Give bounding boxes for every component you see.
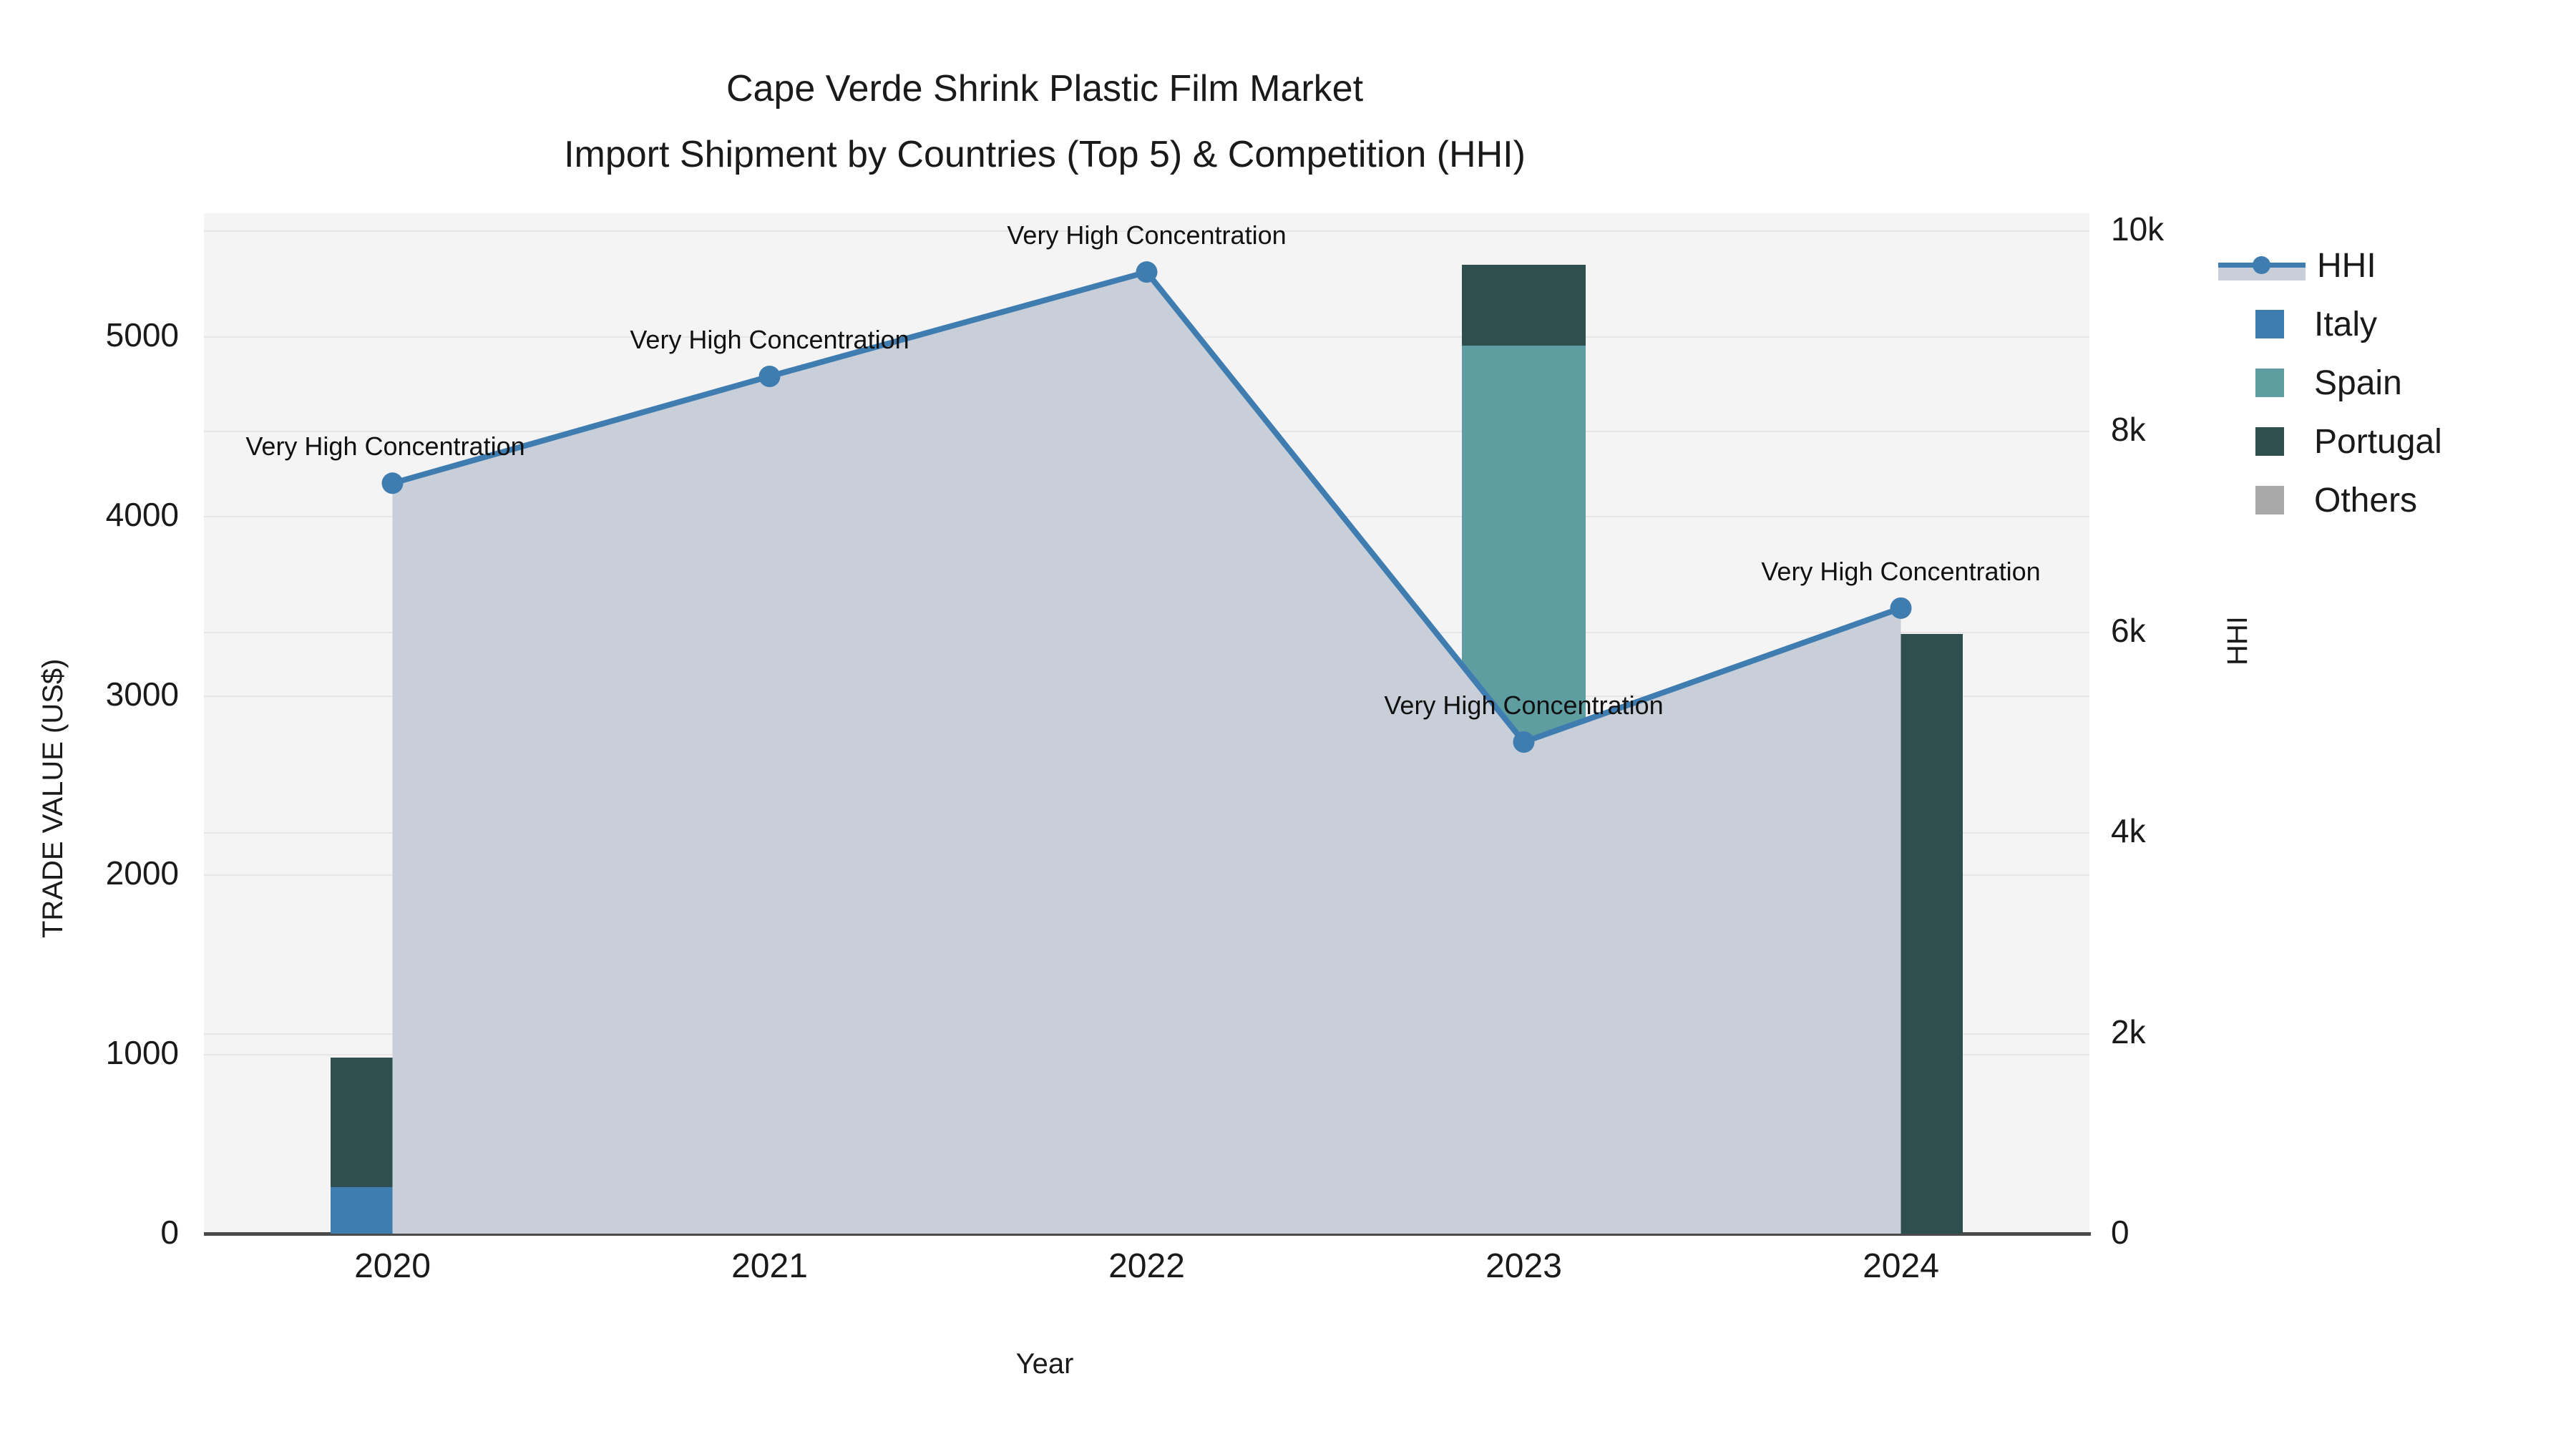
legend-item-others[interactable]: Others — [2218, 471, 2562, 530]
chart-root: Cape Verde Shrink Plastic Film Market Im… — [0, 0, 2576, 1449]
legend-swatch-icon — [2255, 427, 2284, 456]
legend-item-label: Spain — [2314, 364, 2402, 403]
annotation-2024: Very High Concentration — [1651, 557, 2152, 587]
annotation-2023: Very High Concentration — [1274, 691, 1775, 721]
annotation-2020: Very High Concentration — [135, 431, 636, 462]
legend-swatch-icon — [2255, 310, 2284, 338]
legend-swatch-icon — [2255, 369, 2284, 397]
legend-swatch-icon — [2255, 486, 2284, 514]
annotation-2021: Very High Concentration — [519, 325, 1020, 355]
hhi-data-point-2022[interactable] — [1136, 261, 1158, 283]
legend-item-hhi[interactable]: HHI — [2218, 236, 2562, 295]
hhi-line-and-markers — [0, 0, 2576, 1449]
x-axis-label: Year — [0, 1348, 2089, 1380]
hhi-data-point-2020[interactable] — [382, 472, 404, 494]
legend-item-label: Others — [2314, 481, 2417, 520]
legend-line-marker-icon — [2218, 249, 2306, 282]
y-axis-label: TRADE VALUE (US$) — [37, 659, 69, 938]
legend: HHIItalySpainPortugalOthers — [2218, 236, 2562, 530]
annotation-2022: Very High Concentration — [897, 220, 1397, 250]
hhi-data-point-2023[interactable] — [1513, 731, 1535, 753]
hhi-data-point-2024[interactable] — [1890, 597, 1912, 619]
legend-item-italy[interactable]: Italy — [2218, 295, 2562, 353]
legend-item-label: HHI — [2317, 246, 2376, 286]
hhi-data-point-2021[interactable] — [759, 366, 781, 387]
legend-item-label: Italy — [2314, 305, 2377, 344]
y2-axis-label: HHI — [2222, 616, 2254, 665]
legend-item-label: Portugal — [2314, 422, 2442, 462]
legend-dot — [2253, 256, 2270, 274]
legend-item-spain[interactable]: Spain — [2218, 353, 2562, 412]
legend-item-portugal[interactable]: Portugal — [2218, 412, 2562, 471]
